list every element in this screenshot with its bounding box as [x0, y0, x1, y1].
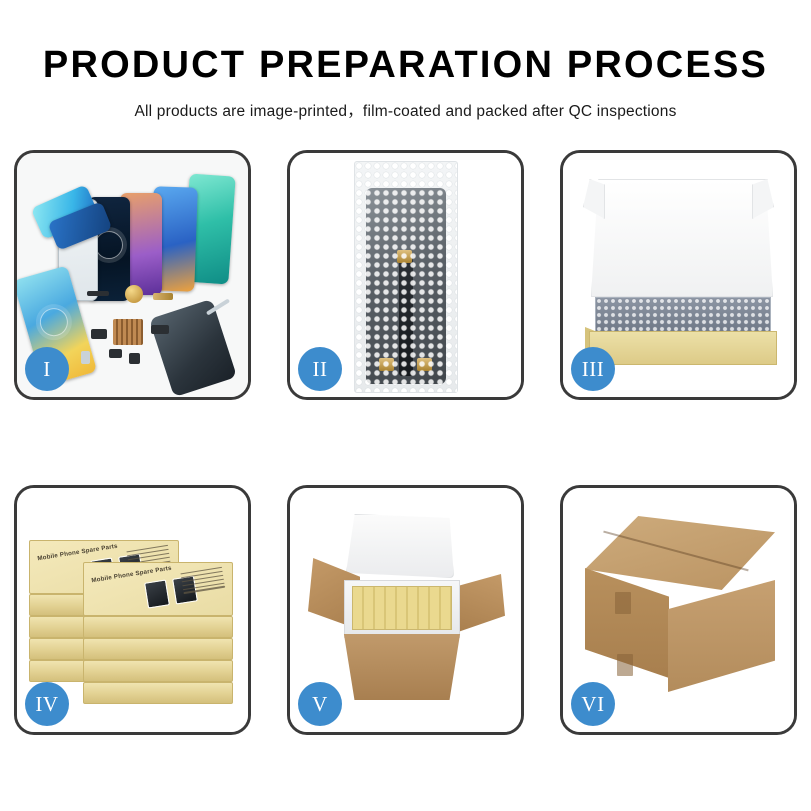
carton-tape-lower: [617, 654, 633, 676]
spare-part-coin: [125, 285, 143, 303]
step-badge-2: II: [298, 347, 342, 391]
step-panel-3: III: [560, 150, 797, 400]
page-title: PRODUCT PREPARATION PROCESS: [0, 46, 811, 86]
bubble-wrap-bag: [354, 161, 458, 393]
spare-part-connector: [151, 325, 169, 334]
cracked-glass-icon: [36, 304, 71, 339]
step-panel-6: VI: [560, 485, 797, 735]
gold-box-layer: [83, 682, 233, 704]
cable-connector-top: [397, 250, 412, 263]
carton-flap-right: [455, 574, 505, 632]
step-panel-1: I: [14, 150, 251, 400]
step-image-open-gold-box: III: [563, 153, 794, 397]
gold-box-product-photo: [144, 579, 170, 608]
foam-lid: [346, 514, 454, 578]
spare-part-button: [129, 353, 140, 364]
header: PRODUCT PREPARATION PROCESS All products…: [0, 0, 811, 121]
box-lid-flap-right: [752, 179, 774, 219]
step-image-sealed-carton: VI: [563, 488, 794, 732]
gold-box-top-front: Mobile Phone Spare Parts: [83, 562, 233, 616]
product-preparation-infographic: PRODUCT PREPARATION PROCESS All products…: [0, 0, 811, 811]
step-badge-1: I: [25, 347, 69, 391]
step-image-carton-with-foam: V: [290, 488, 521, 732]
step-panel-4: Mobile Phone Spare Parts Mobile Phone Sp…: [14, 485, 251, 735]
cable-connector-left: [379, 358, 394, 371]
step-badge-5: V: [298, 682, 342, 726]
step-badge-3: III: [571, 347, 615, 391]
packed-gold-boxes: [352, 586, 452, 630]
gold-box-front: [589, 331, 777, 365]
gold-box-layer: [83, 660, 233, 682]
spare-part-block: [91, 329, 107, 339]
cable-connector-right: [417, 358, 432, 371]
box-lid-flap-left: [583, 179, 605, 219]
step-badge-6: VI: [571, 682, 615, 726]
step-image-stacked-gold-boxes: Mobile Phone Spare Parts Mobile Phone Sp…: [17, 488, 248, 732]
bubble-wrapped-contents: [595, 297, 771, 333]
step-badge-4: IV: [25, 682, 69, 726]
process-steps-grid: I II: [14, 150, 797, 735]
gold-box-layer: [83, 616, 233, 638]
page-subtitle: All products are image-printed，film-coat…: [0, 99, 811, 121]
cracked-glass-icon: [95, 231, 123, 259]
spare-part-camera: [109, 349, 122, 358]
spare-part-bar: [87, 291, 109, 296]
box-lid-panel: [591, 179, 773, 297]
step-panel-5: V: [287, 485, 524, 735]
spare-part-chip-array: [113, 319, 143, 345]
phone-back-housing: [149, 299, 237, 397]
flex-cable: [399, 258, 413, 376]
gold-box-spec-lines: [180, 567, 225, 597]
carton-right-face: [668, 580, 775, 692]
gold-box-layer: [83, 638, 233, 660]
step-image-bubble-wrapped-screen: II: [290, 153, 521, 397]
carton-front-panel: [336, 634, 468, 700]
step-image-phone-parts: I: [17, 153, 248, 397]
spare-part-gold-flex: [153, 293, 173, 300]
spare-part-sim-tray: [81, 351, 90, 364]
carton-tape-upper: [615, 592, 631, 614]
step-panel-2: II: [287, 150, 524, 400]
